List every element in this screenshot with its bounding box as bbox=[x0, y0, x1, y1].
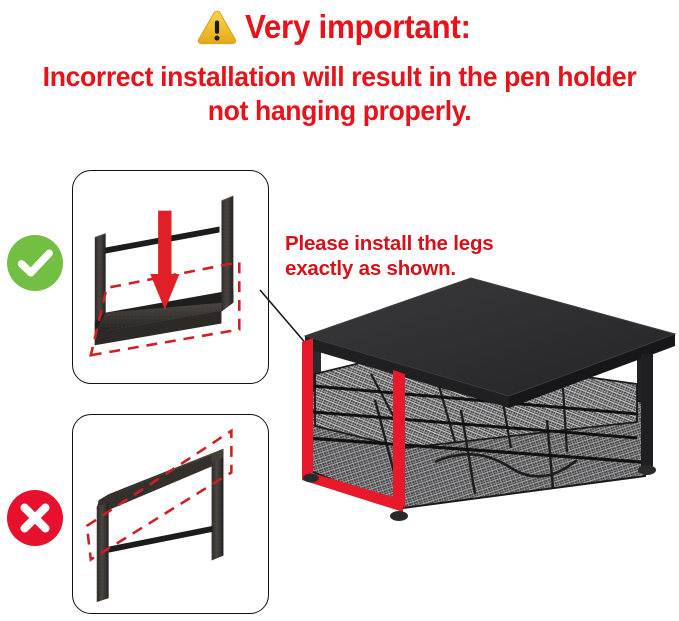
correct-leg-diagram bbox=[73, 171, 268, 383]
headline-line-2: Incorrect installation will result in th… bbox=[17, 60, 662, 93]
check-icon bbox=[6, 234, 64, 292]
headline-title-row: Very important: bbox=[0, 4, 679, 50]
foot-front-right bbox=[638, 465, 656, 475]
headline-title: Very important: bbox=[245, 9, 471, 45]
front-right-leg bbox=[641, 354, 653, 466]
incorrect-badge bbox=[6, 489, 64, 547]
cross-icon bbox=[6, 489, 64, 547]
instruction-line-1: Please install the legs bbox=[285, 231, 585, 256]
instruction-image-root: Very important: Incorrect installation w… bbox=[0, 0, 679, 621]
product-image bbox=[285, 262, 679, 537]
panel-incorrect-orientation bbox=[72, 414, 269, 614]
down-arrow-icon bbox=[150, 211, 179, 310]
panel-correct-orientation bbox=[72, 170, 269, 384]
headline-line-3: not hanging properly. bbox=[17, 94, 662, 127]
incorrect-leg-diagram bbox=[73, 415, 268, 613]
headline-block: Very important: Incorrect installation w… bbox=[0, 4, 679, 127]
foot-rear-left bbox=[303, 474, 319, 483]
warning-triangle-icon bbox=[197, 9, 237, 45]
correct-badge bbox=[6, 234, 64, 292]
desk-organizer-monitor-stand bbox=[285, 262, 679, 537]
foot-front-left bbox=[390, 511, 408, 521]
